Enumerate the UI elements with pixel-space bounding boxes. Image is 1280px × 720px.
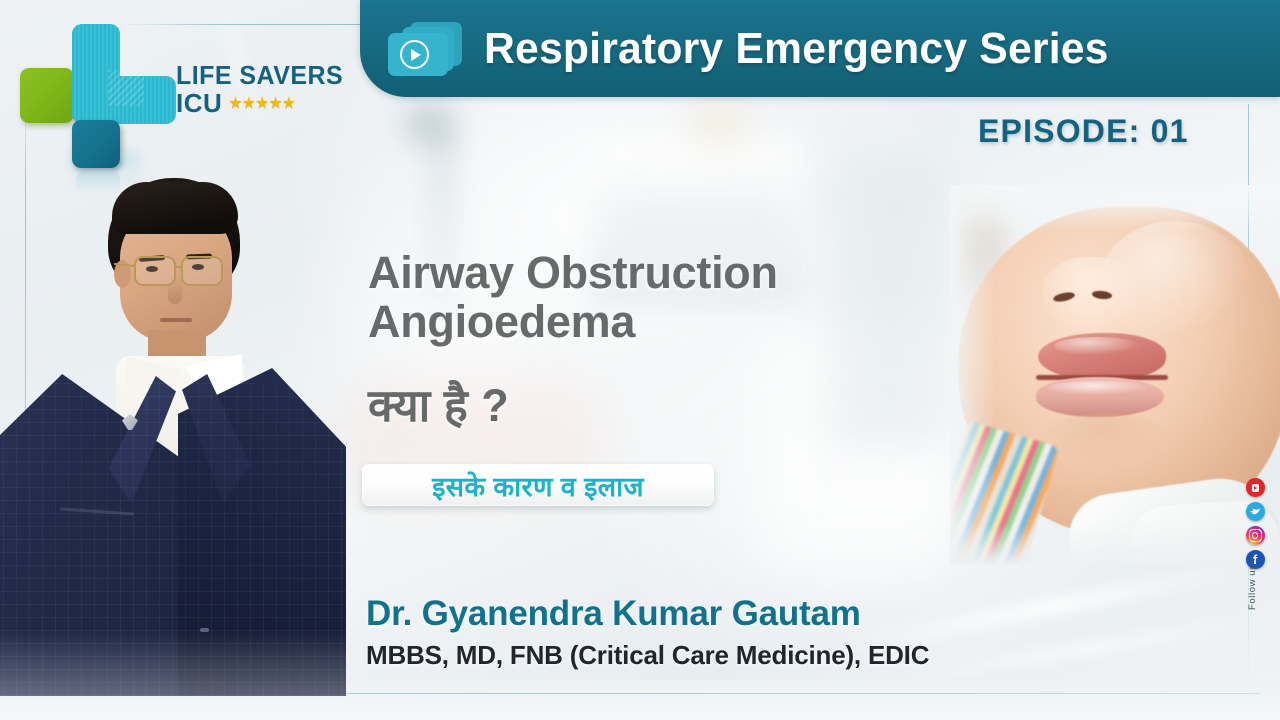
- instagram-icon[interactable]: [1246, 526, 1265, 545]
- series-title: Respiratory Emergency Series: [484, 24, 1109, 74]
- star-rating-icon: ★★★★★: [228, 93, 295, 113]
- topic-title-line2: Angioedema: [368, 298, 968, 347]
- brand-wordmark: LIFE SAVERS ICU ★★★★★: [176, 62, 376, 116]
- topic-title-hindi: क्या है ?: [368, 374, 509, 435]
- follow-us-label: Follow us :: [1247, 558, 1258, 610]
- logo-dark-square: [72, 120, 120, 168]
- logo-cyan-lshape: [72, 24, 176, 124]
- brand-name-line1: LIFE SAVERS: [176, 62, 368, 88]
- video-stack-play-icon: [388, 22, 462, 76]
- presenter-credentials: MBBS, MD, FNB (Critical Care Medicine), …: [366, 640, 929, 671]
- twitter-icon[interactable]: [1246, 502, 1265, 521]
- episode-label: EPISODE: 01: [978, 113, 1189, 150]
- social-links-rail[interactable]: f: [1241, 478, 1269, 569]
- topic-title-english: Airway Obstruction Angioedema: [368, 249, 968, 346]
- presenter-photo: [0, 160, 350, 695]
- youtube-icon[interactable]: [1246, 478, 1265, 497]
- patient-photo-angioedema: [950, 185, 1280, 565]
- slide-canvas: LIFE SAVERS ICU ★★★★★ Respiratory Emerge…: [0, 0, 1280, 720]
- brand-logo-icon: [18, 12, 178, 162]
- topic-title-line1: Airway Obstruction: [368, 249, 968, 298]
- subtitle-badge: इसके कारण व इलाज: [362, 464, 714, 506]
- logo-green-square: [20, 68, 74, 123]
- series-header-banner: Respiratory Emergency Series: [360, 0, 1280, 97]
- presenter-name: Dr. Gyanendra Kumar Gautam: [366, 594, 861, 634]
- brand-name-line2: ICU: [176, 90, 222, 116]
